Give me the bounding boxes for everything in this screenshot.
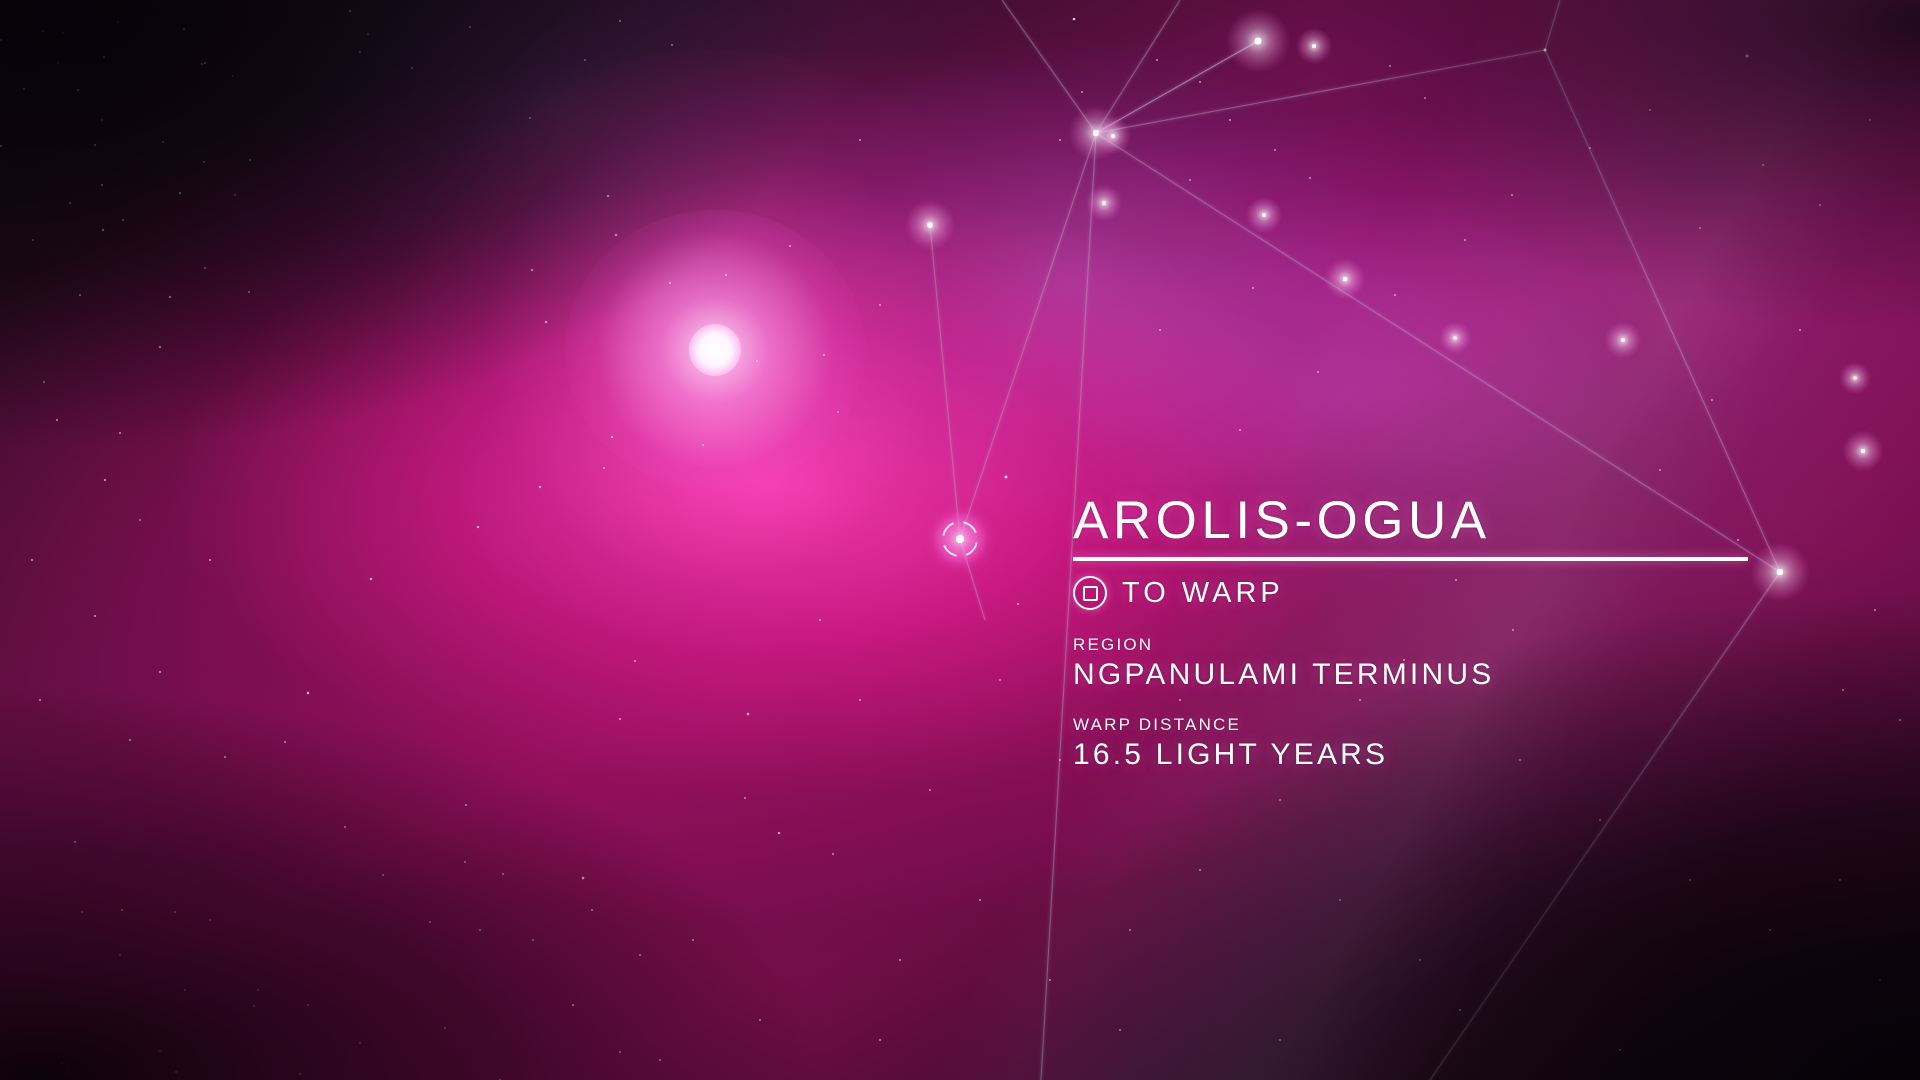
title-divider (1073, 557, 1748, 561)
region-value: NGPANULAMI TERMINUS (1073, 657, 1833, 692)
system-info-panel: AROLIS-OGUA TO WARP REGION NGPANULAMI TE… (1073, 494, 1833, 772)
warp-button[interactable]: TO WARP (1073, 576, 1833, 610)
warp-button-label: TO WARP (1122, 579, 1284, 608)
star-map-screen: AROLIS-OGUA TO WARP REGION NGPANULAMI TE… (0, 0, 1920, 1080)
region-label: REGION (1073, 636, 1833, 655)
page-title: AROLIS-OGUA (1073, 494, 1833, 548)
warp-distance-block: WARP DISTANCE 16.5 LIGHT YEARS (1073, 716, 1833, 772)
region-block: REGION NGPANULAMI TERMINUS (1073, 636, 1833, 692)
warp-distance-value: 16.5 LIGHT YEARS (1073, 737, 1833, 772)
playstation-square-button-icon (1073, 576, 1107, 610)
warp-distance-label: WARP DISTANCE (1073, 716, 1833, 735)
